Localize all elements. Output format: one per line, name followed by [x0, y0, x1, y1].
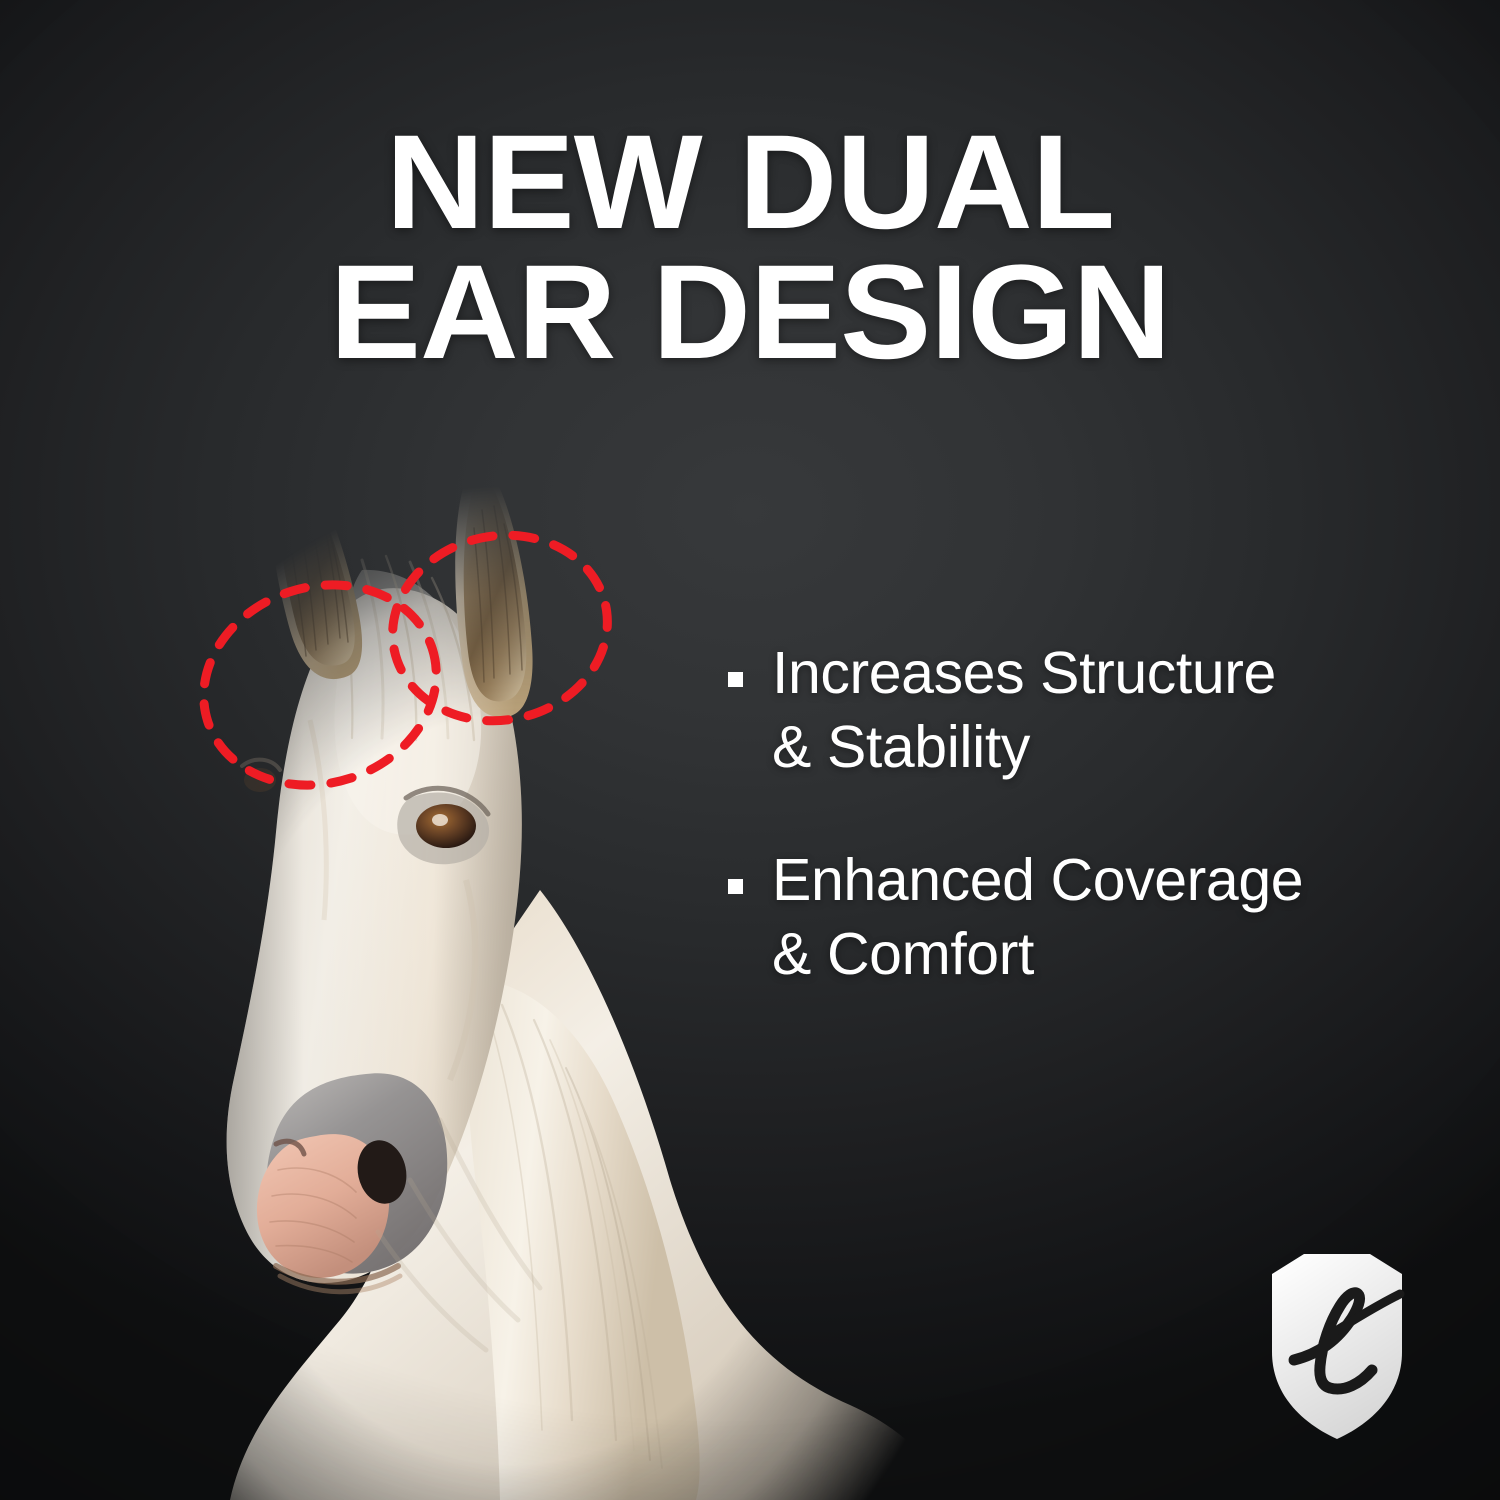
- background-vignette: [0, 0, 1500, 1500]
- advertisement-banner: NEW DUAL EAR DESIGN: [0, 0, 1500, 1500]
